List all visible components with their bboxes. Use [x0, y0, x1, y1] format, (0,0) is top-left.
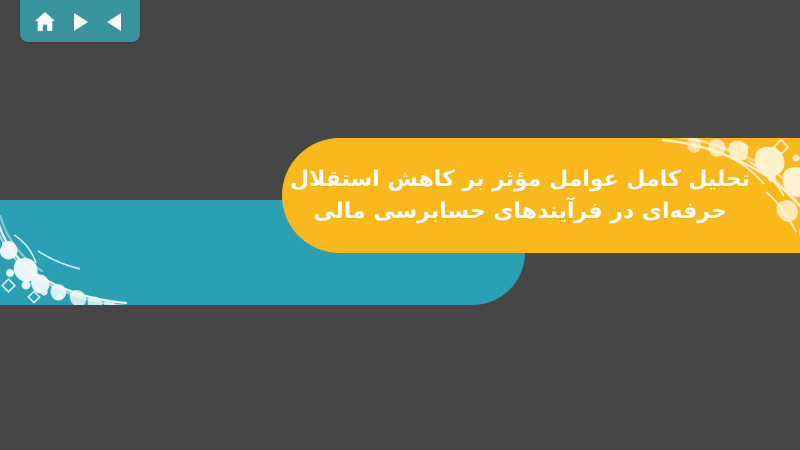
slide-title: تحلیل کامل عوامل مؤثر بر کاهش استقلال حر… [300, 143, 740, 249]
title-line-1: تحلیل کامل عوامل مؤثر بر کاهش استقلال [290, 164, 750, 196]
previous-slide-button[interactable] [100, 8, 130, 36]
triangle-left-icon [106, 12, 124, 32]
next-slide-button[interactable] [65, 8, 95, 36]
title-line-2: حرفه‌ای در فرآیندهای حسابرسی مالی [313, 196, 727, 228]
navigation-bar [20, 0, 140, 42]
arabesque-ornament-teal [0, 215, 128, 305]
home-button[interactable] [30, 8, 60, 36]
home-icon [34, 11, 56, 33]
triangle-right-icon [71, 12, 89, 32]
slide-canvas: تحلیل کامل عوامل مؤثر بر کاهش استقلال حر… [0, 0, 800, 450]
